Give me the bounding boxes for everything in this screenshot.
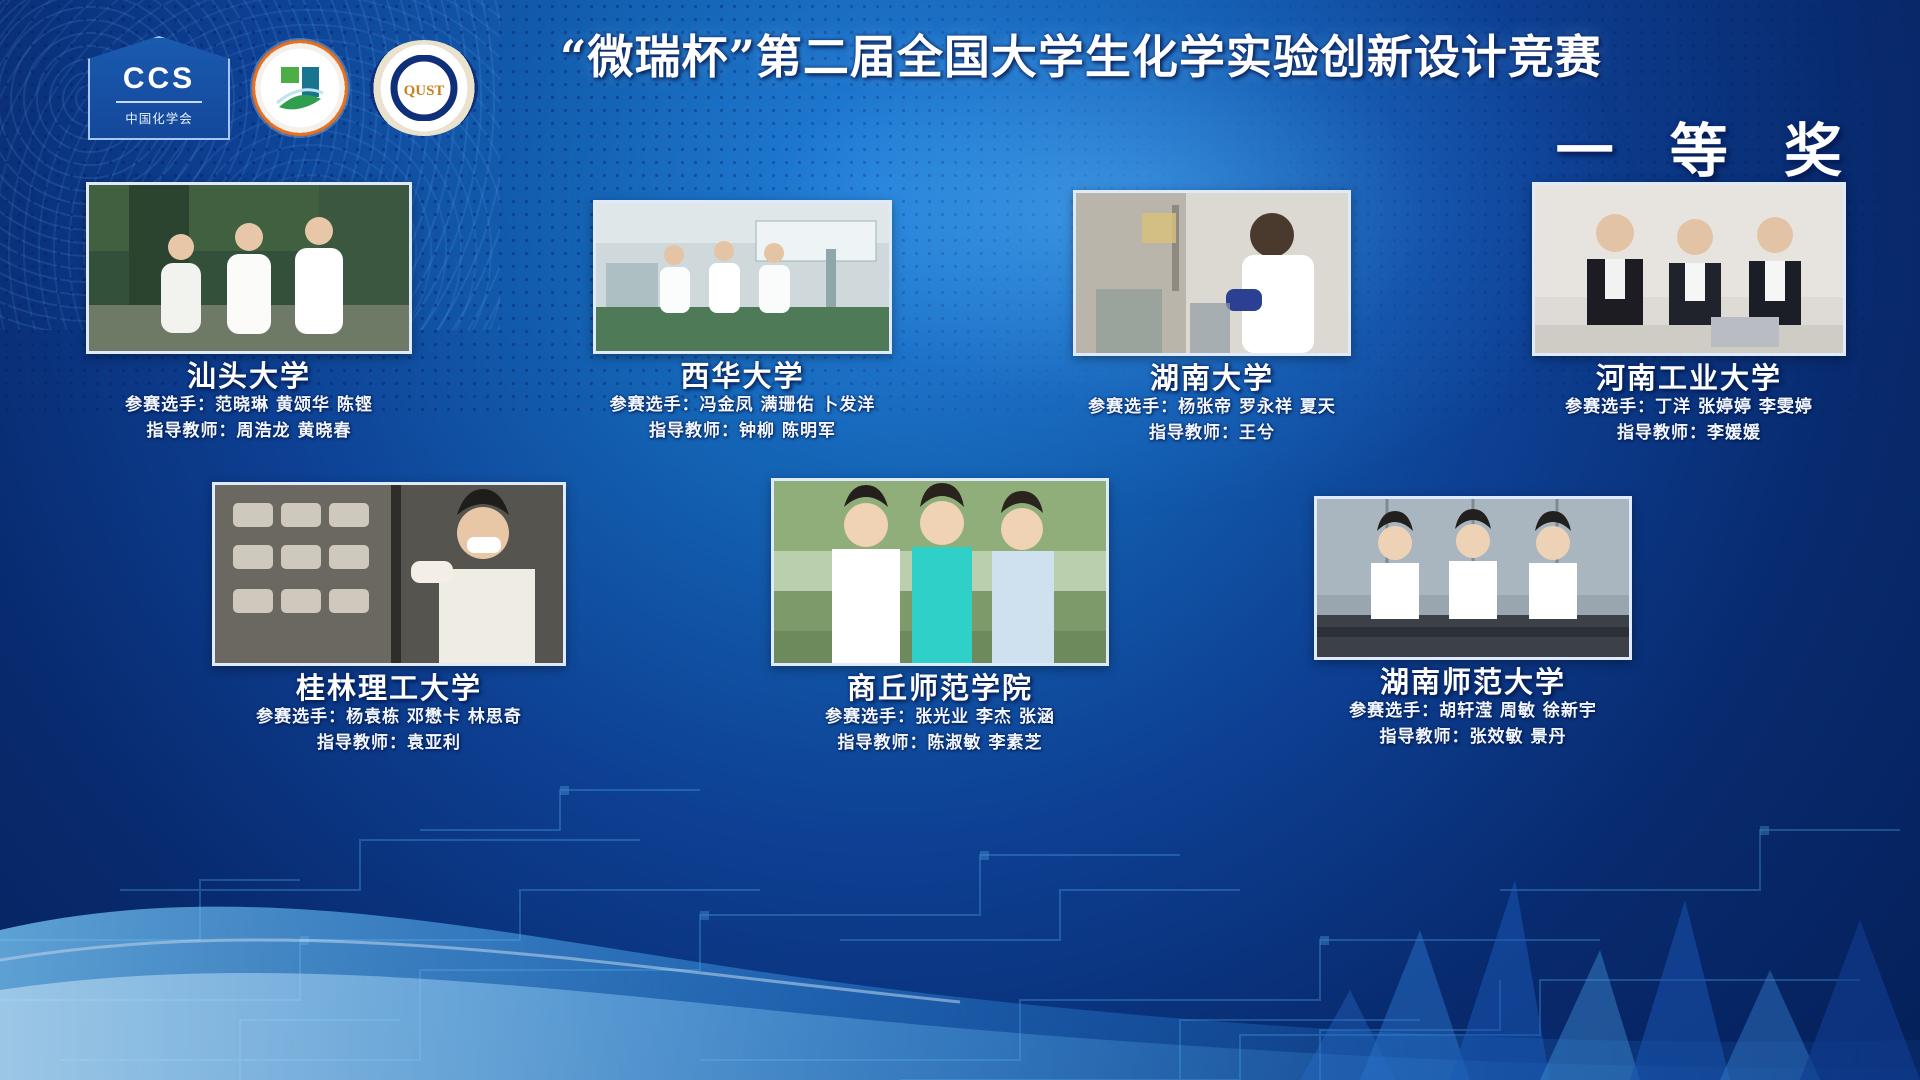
university-name: 商丘师范学院: [825, 672, 1055, 705]
winner-caption: 湖南师范大学 参赛选手：胡轩滢 周敏 徐新宇 指导教师：张效敏 景丹: [1349, 666, 1597, 750]
photo-art: [215, 485, 563, 663]
team-photo-hunan-university: [1073, 190, 1351, 356]
winner-caption: 桂林理工大学 参赛选手：杨袁栋 邓懋卡 林思奇 指导教师：袁亚利: [256, 672, 522, 756]
qust-logo-mark: QUST: [387, 55, 461, 121]
winner-card: 汕头大学 参赛选手：范晓琳 黄颂华 陈铿 指导教师：周浩龙 黄晓春: [86, 182, 412, 444]
organizer-circle-logo: [252, 40, 348, 136]
winner-caption: 河南工业大学 参赛选手：丁洋 张婷婷 李雯婷 指导教师：李媛媛: [1565, 362, 1813, 446]
university-name: 湖南大学: [1088, 362, 1336, 395]
ccs-logo-subtext: 中国化学会: [125, 108, 193, 127]
winner-card: 商丘师范学院 参赛选手：张光业 李杰 张涵 指导教师：陈淑敏 李素芝: [771, 478, 1109, 756]
winner-caption: 西华大学 参赛选手：冯金凤 满珊佑 卜发洋 指导教师：钟柳 陈明军: [610, 360, 876, 444]
advisors: 指导教师：周浩龙 黄晓春: [125, 419, 373, 445]
ccs-logo-divider: [116, 101, 202, 103]
winner-card: 湖南大学 参赛选手：杨张帝 罗永祥 夏天 指导教师：王兮: [1073, 190, 1351, 446]
ccs-logo: CCS 中国化学会: [88, 36, 230, 140]
advisors: 指导教师：张效敏 景丹: [1349, 725, 1597, 751]
team-photo-guilin-university-of-technology: [212, 482, 566, 666]
photo-art: [774, 481, 1106, 663]
page-title: “微瑞杯”第二届全国大学生化学实验创新设计竞赛: [560, 34, 1890, 81]
contestants: 参赛选手：张光业 李杰 张涵: [825, 705, 1055, 731]
winner-card: 河南工业大学 参赛选手：丁洋 张婷婷 李雯婷 指导教师：李媛媛: [1532, 182, 1846, 446]
photo-art: [1535, 185, 1843, 353]
contestants: 参赛选手：杨袁栋 邓懋卡 林思奇: [256, 705, 522, 731]
photo-art: [596, 203, 889, 351]
contestants: 参赛选手：丁洋 张婷婷 李雯婷: [1565, 395, 1813, 421]
winner-card: 西华大学 参赛选手：冯金凤 满珊佑 卜发洋 指导教师：钟柳 陈明军: [593, 200, 892, 444]
winner-card: 湖南师范大学 参赛选手：胡轩滢 周敏 徐新宇 指导教师：张效敏 景丹: [1314, 496, 1632, 750]
team-photo-hunan-normal-university: [1314, 496, 1632, 660]
advisors: 指导教师：钟柳 陈明军: [610, 419, 876, 445]
award-level: 一 等 奖: [1556, 104, 1860, 188]
university-name: 西华大学: [610, 360, 876, 393]
team-photo-xihua: [593, 200, 892, 354]
university-name: 湖南师范大学: [1349, 666, 1597, 699]
svg-text:QUST: QUST: [404, 83, 445, 99]
advisors: 指导教师：袁亚利: [256, 731, 522, 757]
contestants: 参赛选手：杨张帝 罗永祥 夏天: [1088, 395, 1336, 421]
photo-art: [89, 185, 409, 351]
organizer-circle-logo-mark: [269, 57, 331, 119]
team-photo-shantou: [86, 182, 412, 354]
photo-art: [1317, 499, 1629, 657]
winners-row-2: 桂林理工大学 参赛选手：杨袁栋 邓懋卡 林思奇 指导教师：袁亚利: [212, 482, 1632, 756]
winner-caption: 汕头大学 参赛选手：范晓琳 黄颂华 陈铿 指导教师：周浩龙 黄晓春: [125, 360, 373, 444]
contestants: 参赛选手：冯金凤 满珊佑 卜发洋: [610, 393, 876, 419]
organizer-logos: CCS 中国化学会 QUST: [88, 36, 478, 140]
winners-row-1: 汕头大学 参赛选手：范晓琳 黄颂华 陈铿 指导教师：周浩龙 黄晓春: [86, 182, 1846, 446]
qust-logo: QUST: [370, 40, 478, 136]
advisors: 指导教师：王兮: [1088, 421, 1336, 447]
ccs-logo-text: CCS: [123, 64, 195, 94]
university-name: 河南工业大学: [1565, 362, 1813, 395]
team-photo-shangqiu-normal-university: [771, 478, 1109, 666]
winner-caption: 商丘师范学院 参赛选手：张光业 李杰 张涵 指导教师：陈淑敏 李素芝: [825, 672, 1055, 756]
winner-caption: 湖南大学 参赛选手：杨张帝 罗永祥 夏天 指导教师：王兮: [1088, 362, 1336, 446]
advisors: 指导教师：陈淑敏 李素芝: [825, 731, 1055, 757]
contestants: 参赛选手：胡轩滢 周敏 徐新宇: [1349, 699, 1597, 725]
team-photo-henan-university-of-technology: [1532, 182, 1846, 356]
university-name: 汕头大学: [125, 360, 373, 393]
university-name: 桂林理工大学: [256, 672, 522, 705]
photo-art: [1076, 193, 1348, 353]
contestants: 参赛选手：范晓琳 黄颂华 陈铿: [125, 393, 373, 419]
advisors: 指导教师：李媛媛: [1565, 421, 1813, 447]
winner-card: 桂林理工大学 参赛选手：杨袁栋 邓懋卡 林思奇 指导教师：袁亚利: [212, 482, 566, 756]
